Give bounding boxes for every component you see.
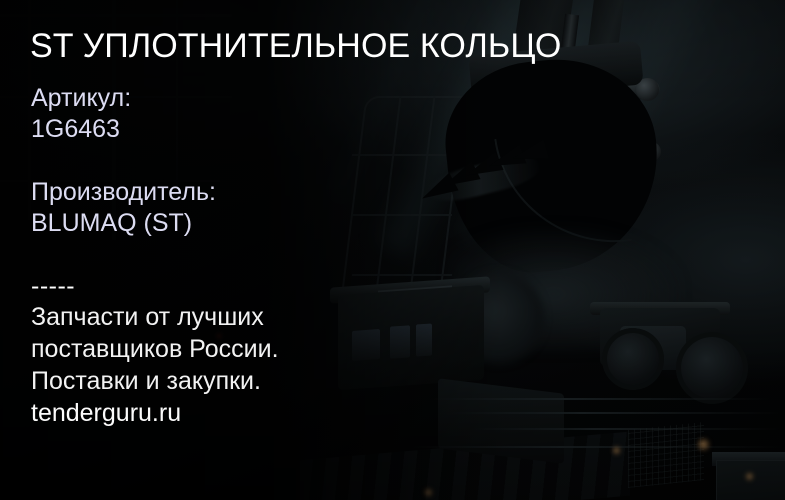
manufacturer-value: BLUMAQ (ST) [31,208,216,239]
manufacturer-label: Производитель: [31,177,216,208]
product-title: ST УПЛОТНИТЕЛЬНОЕ КОЛЬЦО [30,26,561,66]
banner-content: ST УПЛОТНИТЕЛЬНОЕ КОЛЬЦО Артикул: 1G6463… [0,0,785,500]
article-field: Артикул: 1G6463 [31,83,131,145]
promo-line-2: поставщиков России. [31,333,279,365]
promo-line-1: Запчасти от лучших [31,301,279,333]
product-banner: ST УПЛОТНИТЕЛЬНОЕ КОЛЬЦО Артикул: 1G6463… [0,0,785,500]
manufacturer-field: Производитель: BLUMAQ (ST) [31,177,216,239]
promo-blurb: Запчасти от лучших поставщиков России. П… [31,301,279,429]
article-label: Артикул: [31,83,131,114]
site-url[interactable]: tenderguru.ru [31,397,279,429]
divider-dashes: ----- [31,272,75,300]
promo-line-3: Поставки и закупки. [31,365,279,397]
article-value: 1G6463 [31,114,131,145]
